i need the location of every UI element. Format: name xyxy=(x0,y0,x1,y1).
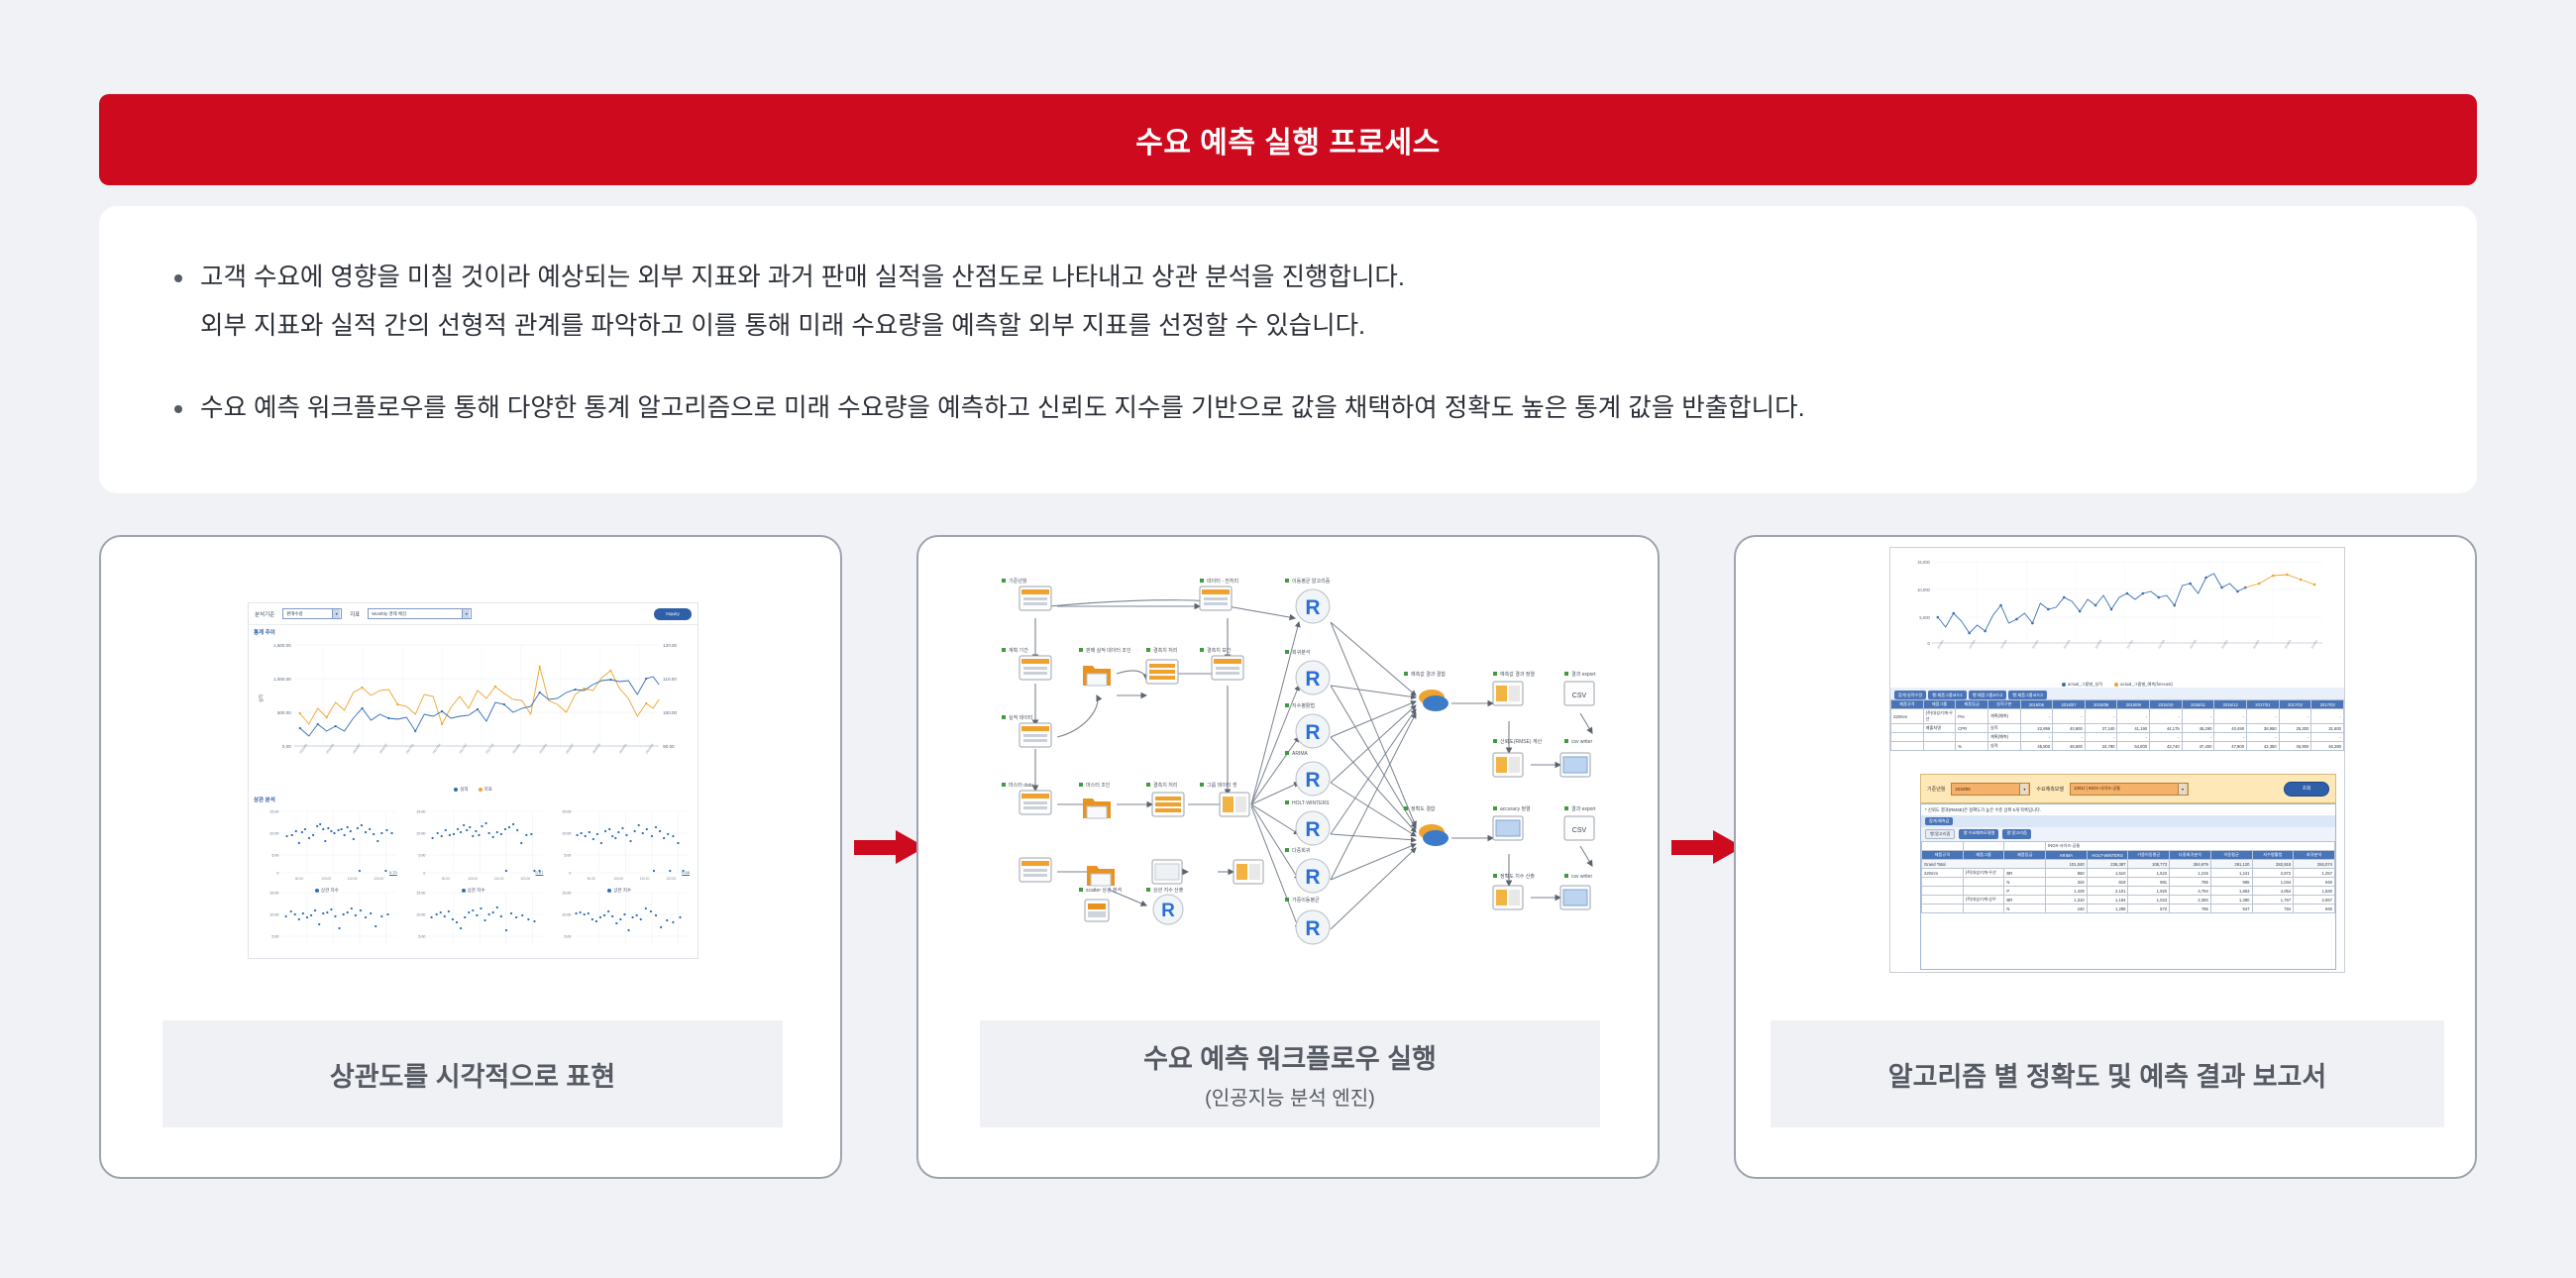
table-row: 계획(예측) - - - - - - - - - - xyxy=(1891,733,2344,742)
svg-text:2017/05: 2017/05 xyxy=(2157,638,2166,649)
cell-value: - xyxy=(2020,733,2053,742)
header-banner: 수요 예측 실행 프로세스 xyxy=(99,94,2477,185)
svg-text:2018/10: 2018/10 xyxy=(591,743,601,755)
svg-text:2016/04: 2016/04 xyxy=(325,743,335,755)
pivot-tab[interactable]: 합계:실적수량 xyxy=(1894,691,1926,699)
cell-value: 1,510 xyxy=(2087,869,2128,878)
forecast-chart: 15,00010,000 5,0000 xyxy=(1898,554,2336,681)
model-name: INOX-사이즈-공통 xyxy=(2046,842,2335,851)
workflow-canvas: 기준년월 계획 기간 실적 데이터 마스터 data 판매 실적 데이터 조인 … xyxy=(958,557,1622,963)
cell-group: (주)대성기계-우산 xyxy=(1963,869,2004,878)
svg-text:2015/01: 2015/01 xyxy=(1936,638,1945,649)
table-row-grand-total: Grand Total 101,040 236,387 108,773 284,… xyxy=(1922,860,2335,869)
pivot-tab[interactable]: 행:제품그룹코드3 xyxy=(2008,691,2046,699)
cell-value: 47,400 xyxy=(2182,742,2214,751)
svg-text:15.00: 15.00 xyxy=(416,892,425,896)
svg-text:100.00: 100.00 xyxy=(321,877,331,881)
workflow-svg: 기준년월 계획 기간 실적 데이터 마스터 data 판매 실적 데이터 조인 … xyxy=(958,557,1622,963)
pivot-chip[interactable]: 행:알고리즘 xyxy=(1925,829,1955,839)
cell-group xyxy=(1923,733,1956,742)
cell-grade xyxy=(1956,733,1988,742)
svg-text:2017/10: 2017/10 xyxy=(484,743,494,755)
legend-label-actual: actual_그룹별_실적 xyxy=(2068,682,2102,688)
svg-text:110.00: 110.00 xyxy=(663,677,677,682)
col-period: 2017/03 xyxy=(2311,700,2344,709)
cell-value: 947 xyxy=(2210,905,2252,913)
cell-value: 2,350 xyxy=(2170,896,2211,905)
col-spec: 제품규격 xyxy=(1891,700,1924,709)
col-algo: ARIMA xyxy=(2046,851,2088,860)
svg-text:CSV: CSV xyxy=(1572,692,1587,699)
cell-value: 850 xyxy=(2046,869,2088,878)
process-step-card-1[interactable]: 분석기준 판매수량 ▾ 지표 Monthly 경제 체감 ▾ Inquiry 통… xyxy=(99,535,842,1179)
cell-spec xyxy=(1922,887,1964,896)
col-group: 제품그룹 xyxy=(1963,851,2004,860)
bullet-list: 고객 수요에 영향을 미칠 것이라 예상되는 외부 지표와 과거 판매 실적을 … xyxy=(99,206,2477,433)
col-kind: 실적구분 xyxy=(1987,700,2020,709)
svg-text:2016/07: 2016/07 xyxy=(352,743,362,755)
indicator-label: 지표 xyxy=(350,610,360,618)
cell-value: 54,800 xyxy=(2117,742,2150,751)
svg-text:0: 0 xyxy=(1928,641,1931,646)
cell-spec xyxy=(1891,733,1924,742)
svg-text:결측치 처리: 결측치 처리 xyxy=(1153,782,1177,789)
svg-text:0: 0 xyxy=(276,872,278,876)
cell-grade: N xyxy=(2004,878,2046,887)
col-period: 2016/10 xyxy=(2150,700,2183,709)
cell-value: 795 xyxy=(2170,878,2211,887)
table-row: 220mm (주)대성기계-우산 BR 850 1,510 1,523 1,21… xyxy=(1922,869,2335,878)
table-header-row: 제품규격 제품그룹 제품등급 ARIMA HOLT-WINTERS 가중이동평균… xyxy=(1922,851,2335,860)
legend-item-actual: actual_그룹별_실적 xyxy=(2062,682,2102,688)
svg-text:2018/05: 2018/05 xyxy=(2252,638,2261,649)
svg-text:신뢰도(RMSE) 계산: 신뢰도(RMSE) 계산 xyxy=(1500,738,1543,745)
cell-value: - xyxy=(2182,709,2214,724)
svg-text:5.00: 5.00 xyxy=(271,935,278,939)
cell-value: 47,900 xyxy=(2214,742,2247,751)
svg-text:10.00: 10.00 xyxy=(269,832,278,836)
card3-caption-main: 알고리즘 별 정확도 및 예측 결과 보고서 xyxy=(1888,1055,2326,1094)
svg-text:10.00: 10.00 xyxy=(563,913,572,917)
cell-value: 4,054 xyxy=(2252,887,2294,896)
bullet-item: 수요 예측 워크플로우를 통해 다양한 통계 알고리즘으로 미래 수요량을 예측… xyxy=(170,384,2477,433)
cell-value: 43,740 xyxy=(2150,742,2183,751)
cell-value: - xyxy=(2053,709,2086,724)
col-period: 2016/11 xyxy=(2182,700,2214,709)
cell-group xyxy=(1923,742,1956,751)
inquiry-button[interactable]: Inquiry xyxy=(654,608,692,620)
svg-text:10.00: 10.00 xyxy=(269,913,278,917)
svg-text:accuracy 정렬: accuracy 정렬 xyxy=(1500,805,1531,812)
svg-text:90.00: 90.00 xyxy=(663,744,675,749)
cell-group: (주)대성기계-우산 xyxy=(1923,709,1956,724)
pivot-chip[interactable]: 합계:예측값 xyxy=(1925,817,1953,825)
cell-value: - xyxy=(2117,733,2150,742)
legend-item-index: 지표 xyxy=(479,787,492,793)
svg-text:15.00: 15.00 xyxy=(563,810,572,814)
cell-value: - xyxy=(2150,709,2183,724)
legend-label-index: 지표 xyxy=(484,787,492,793)
table-row: 220mm (주)대성기계-우산 Pre 계획(예측) - - - - - - xyxy=(1891,709,2344,724)
cell-value: 36,950 xyxy=(2247,724,2280,733)
table-row: % 실적 45,800 48,500 34,790 54,800 43,740 … xyxy=(1891,742,2344,751)
svg-text:15.00: 15.00 xyxy=(269,892,278,896)
svg-text:2016/01: 2016/01 xyxy=(2031,638,2040,649)
cell-value: 48,500 xyxy=(2053,742,2086,751)
svg-text:100.00: 100.00 xyxy=(663,710,677,715)
chevron-down-icon: ▾ xyxy=(2019,784,2028,795)
legend-item-forecast: actual_그룹별_예측(forecast) xyxy=(2114,682,2173,688)
cell-value: 240 xyxy=(2046,905,2088,913)
svg-text:2018/09: 2018/09 xyxy=(2284,638,2293,649)
col-period: 2017/01 xyxy=(2247,700,2280,709)
svg-text:R: R xyxy=(1305,596,1320,619)
svg-text:90.00: 90.00 xyxy=(441,877,449,881)
svg-text:상관 지수 산출: 상관 지수 산출 xyxy=(1153,887,1184,894)
svg-text:2017/09: 2017/09 xyxy=(2189,638,2198,649)
base-month-label: 기준년월 xyxy=(1927,786,1945,793)
cell-value: 1,390 xyxy=(2210,896,2252,905)
legend-label-forecast: actual_그룹별_예측(forecast) xyxy=(2120,682,2173,688)
period-pivot-table: 제품규격 제품그룹 제품등급 실적구분 2016/06 2016/07 2016… xyxy=(1890,699,2344,751)
col-grade: 제품등급 xyxy=(1956,700,1988,709)
cell-grade: Pre xyxy=(1956,709,1988,724)
cell-value: - xyxy=(2247,709,2280,724)
svg-text:0: 0 xyxy=(570,872,572,876)
svg-text:데이터 - 전처리: 데이터 - 전처리 xyxy=(1207,578,1238,585)
cell-group: 매출처명 xyxy=(1923,724,1956,733)
svg-text:10,000: 10,000 xyxy=(1917,587,1930,592)
trend-chart-svg: 1,500.001,000.00 500.000.00 120.00110.00… xyxy=(255,637,692,786)
forecast-model-select[interactable]: 1003J | INOX-사이즈-공통 ▾ xyxy=(2070,783,2189,796)
svg-text:2018/04: 2018/04 xyxy=(538,743,548,755)
cell-grand-total-label: Grand Total xyxy=(1922,860,2046,869)
card1-thumbnail: 분석기준 판매수량 ▾ 지표 Monthly 경제 체감 ▾ Inquiry 통… xyxy=(101,537,840,983)
svg-text:120.00: 120.00 xyxy=(663,643,677,648)
cell-value: 1,194 xyxy=(2087,896,2128,905)
bullet-item: 고객 수요에 영향을 미칠 것이라 예상되는 외부 지표와 과거 판매 실적을 … xyxy=(170,254,2477,351)
cell-value: - xyxy=(2311,709,2344,724)
correlation-section-title: 상관 분석 xyxy=(249,793,698,803)
forecast-chart-svg: 15,00010,000 5,0000 xyxy=(1898,554,2336,681)
analysis-basis-select[interactable]: 판매수량 ▾ xyxy=(282,608,342,619)
svg-text:csv writer: csv writer xyxy=(1571,874,1592,880)
col-period: 2016/06 xyxy=(2020,700,2053,709)
svg-text:5.00: 5.00 xyxy=(565,854,572,858)
table-header-row: 제품규격 제품그룹 제품등급 실적구분 2016/06 2016/07 2016… xyxy=(1891,700,2344,709)
col-group: 제품그룹 xyxy=(1923,700,1956,709)
svg-text:15.00: 15.00 xyxy=(563,892,572,896)
cell-value: - xyxy=(2182,733,2214,742)
svg-text:2018/01: 2018/01 xyxy=(511,743,521,755)
svg-text:2015/05: 2015/05 xyxy=(1968,638,1977,649)
svg-text:결과 export: 결과 export xyxy=(1571,671,1596,678)
svg-text:csv writer: csv writer xyxy=(1571,739,1592,745)
bullet-dot-icon xyxy=(174,274,182,282)
chevron-down-icon: ▾ xyxy=(2178,784,2187,795)
cell-value: 291,120 xyxy=(2210,860,2252,869)
bullet-line-2: 외부 지표와 실적 간의 선형적 관계를 파악하고 이를 통해 미래 수요량을 … xyxy=(200,302,2477,351)
card3-thumbnail: 15,00010,000 5,0000 xyxy=(1736,537,2475,983)
col-algo: 다중회귀분석 xyxy=(2170,851,2211,860)
algorithm-accuracy-table: INOX-사이즈-공통 제품규격 제품그룹 제품등급 ARIMA HOLT-WI… xyxy=(1921,841,2335,913)
analysis-basis-value: 판매수량 xyxy=(286,611,303,617)
svg-text:100.00: 100.00 xyxy=(468,877,478,881)
svg-text:90.00: 90.00 xyxy=(295,877,303,881)
svg-text:15,000: 15,000 xyxy=(1917,560,1930,565)
col-spec: 제품규격 xyxy=(1922,851,1964,860)
pivot-tab[interactable]: 행:제품그룹코드2 xyxy=(1969,691,2006,699)
svg-text:그룹 데이터 셋: 그룹 데이터 셋 xyxy=(1207,782,1237,789)
col-algo: HOLT-WINTERS xyxy=(2087,851,2128,860)
chevron-down-icon: ▾ xyxy=(332,609,340,618)
cell-value: 282,918 xyxy=(2252,860,2294,869)
cell-value: - xyxy=(2311,733,2344,742)
svg-text:마스터 조인: 마스터 조인 xyxy=(1086,782,1111,789)
correlation-coefficient: 0.73 xyxy=(389,870,397,875)
svg-text:0: 0 xyxy=(423,872,425,876)
col-period: 2016/08 xyxy=(2085,700,2117,709)
svg-text:2017/04: 2017/04 xyxy=(432,743,442,755)
process-step-card-2[interactable]: 기준년월 계획 기간 실적 데이터 마스터 data 판매 실적 데이터 조인 … xyxy=(916,535,1660,1179)
model-name-row: INOX-사이즈-공통 xyxy=(1922,842,2335,851)
svg-text:R: R xyxy=(1305,917,1320,940)
scatter-plot: 15.0010.00 5.000 90.00100.00 110.00120.0… xyxy=(255,805,399,885)
svg-text:이동평균 알고리즘: 이동평균 알고리즘 xyxy=(1292,578,1331,585)
cell-value: - xyxy=(2214,733,2247,742)
cell-kind: 실적 xyxy=(1987,742,2020,751)
chevron-down-icon: ▾ xyxy=(462,609,470,618)
svg-text:120.00: 120.00 xyxy=(520,877,530,881)
cell-value: 2,557 xyxy=(2294,896,2335,905)
svg-text:R: R xyxy=(1305,866,1320,889)
svg-text:R: R xyxy=(1305,721,1320,744)
page-title: 수요 예측 실행 프로세스 xyxy=(1135,118,1441,161)
svg-text:0.00: 0.00 xyxy=(282,744,291,749)
pivot-tab[interactable]: 행:제품그룹코드1 xyxy=(1928,691,1966,699)
svg-text:2018/01: 2018/01 xyxy=(2220,638,2229,649)
cell-value: 1,310 xyxy=(2046,896,2088,905)
cell-grade: N xyxy=(2004,905,2046,913)
cell-value: 284,679 xyxy=(2170,860,2211,869)
cell-spec xyxy=(1891,742,1924,751)
search-button[interactable]: 조회 xyxy=(2284,782,2329,797)
scatter-plot-grid: 15.0010.00 5.000 90.00100.00 110.00120.0… xyxy=(255,805,692,948)
slide-root: 수요 예측 실행 프로세스 고객 수요에 영향을 미칠 것이라 예상되는 외부 … xyxy=(0,0,2576,1278)
cell-value: 1,840 xyxy=(2294,887,2335,896)
indicator-select[interactable]: Monthly 경제 체감 ▾ xyxy=(368,608,472,619)
svg-text:정확도 결합: 정확도 결합 xyxy=(1411,805,1436,812)
cell-value: 940 xyxy=(2294,878,2335,887)
cell-value: 31,600 xyxy=(2311,724,2344,733)
card1-caption-main: 상관도를 시각적으로 표현 xyxy=(330,1055,615,1094)
svg-text:판매 실적 데이터 조인: 판매 실적 데이터 조인 xyxy=(1086,647,1131,654)
svg-text:2019/01: 2019/01 xyxy=(618,743,628,755)
svg-text:R: R xyxy=(1305,818,1320,841)
pivot-chip[interactable]: 열:수요예측모델명 xyxy=(1959,829,1998,839)
accuracy-note: * 신뢰도 결과(RMSE)은 정확도가 높은 수준 상위 5개 목록입니다. xyxy=(1921,804,2335,815)
cell-value: 44,175 xyxy=(2150,724,2183,733)
svg-text:5,000: 5,000 xyxy=(1919,615,1930,620)
cell-value: 41,190 xyxy=(2117,724,2150,733)
svg-text:2017/07: 2017/07 xyxy=(459,743,469,755)
svg-text:90.00: 90.00 xyxy=(588,877,595,881)
cell-value: 2,101 xyxy=(2087,887,2128,896)
svg-text:HOLT-WINTERS: HOLT-WINTERS xyxy=(1292,800,1330,806)
svg-text:2019/01: 2019/01 xyxy=(2310,638,2319,649)
svg-text:다중회귀: 다중회귀 xyxy=(1292,847,1310,854)
col-algo: 지수평활법 xyxy=(2252,851,2294,860)
cell-value: 45,900 xyxy=(2279,742,2311,751)
cell-value: 1,429 xyxy=(2046,887,2088,896)
svg-text:마스터 data: 마스터 data xyxy=(1009,782,1033,789)
forecast-model-value: 1003J | INOX-사이즈-공통 xyxy=(2074,786,2120,792)
pivot-chip[interactable]: 열:알고리즘 xyxy=(2002,829,2030,839)
cell-value: 40,490 xyxy=(2214,724,2247,733)
svg-text:5.00: 5.00 xyxy=(565,935,572,939)
cell-grade: P xyxy=(2004,887,2046,896)
cell-group xyxy=(1963,905,2004,913)
svg-text:110.00: 110.00 xyxy=(640,877,650,881)
cell-value: - xyxy=(2279,733,2311,742)
cell-value: 794 xyxy=(2252,905,2294,913)
svg-text:500.00: 500.00 xyxy=(277,710,291,715)
cell-value: - xyxy=(2150,733,2183,742)
cell-value: 101,040 xyxy=(2046,860,2088,869)
svg-text:계획 기간: 계획 기간 xyxy=(1009,647,1028,654)
svg-text:R: R xyxy=(1305,769,1320,792)
cell-group: (주)대성기계-상우 xyxy=(1963,896,2004,905)
analysis-basis-label: 분석기준 xyxy=(255,610,274,618)
cell-value: 284,074 xyxy=(2294,860,2335,869)
cell-value: 2,872 xyxy=(2252,869,2294,878)
scatter-plot: 15.0010.005.00 xyxy=(547,887,692,948)
cell-value: - xyxy=(2117,709,2150,724)
trend-section-title: 통계 추이 xyxy=(249,625,698,636)
correlation-dashboard: 분석기준 판매수량 ▾ 지표 Monthly 경제 체감 ▾ Inquiry 통… xyxy=(248,602,698,959)
svg-text:CSV: CSV xyxy=(1572,827,1587,834)
forecast-model-label: 수요예측모델 xyxy=(2036,786,2064,793)
bullet-dot-icon xyxy=(174,405,182,413)
scatter-plot: 15.0010.005.00 xyxy=(255,887,399,948)
cell-value: 45,290 xyxy=(2182,724,2214,733)
card3-caption: 알고리즘 별 정확도 및 예측 결과 보고서 xyxy=(1771,1020,2444,1127)
cell-value: 818 xyxy=(2087,878,2128,887)
svg-text:2017/01: 2017/01 xyxy=(405,743,415,755)
svg-text:1,000.00: 1,000.00 xyxy=(273,677,291,682)
forecast-report: 15,00010,000 5,0000 xyxy=(1889,547,2345,973)
svg-text:5.00: 5.00 xyxy=(418,854,425,858)
cell-spec xyxy=(1922,896,1964,905)
cell-value: - xyxy=(2085,709,2117,724)
cell-value: - xyxy=(2247,733,2280,742)
cell-value: 25,300 xyxy=(2279,724,2311,733)
cell-value: 1,257 xyxy=(2294,869,2335,878)
table-row: (주)대성기계-상우 BR 1,310 1,194 1,023 2,350 1,… xyxy=(1922,896,2335,905)
svg-text:1,500.00: 1,500.00 xyxy=(273,643,291,648)
cell-grade: % xyxy=(1956,742,1988,751)
cell-grade: BR xyxy=(2004,896,2046,905)
svg-text:10.00: 10.00 xyxy=(416,832,425,836)
table-row: P 1,429 2,101 1,920 4,794 1,863 4,054 1,… xyxy=(1922,887,2335,896)
svg-text:120.00: 120.00 xyxy=(667,877,677,881)
svg-text:기준년월: 기준년월 xyxy=(1009,578,1027,585)
svg-text:2018/07: 2018/07 xyxy=(565,743,575,755)
svg-text:2016/01: 2016/01 xyxy=(298,743,308,755)
table-row: 매출처명 CPR 실적 22,899 40,900 37,240 41,190 … xyxy=(1891,724,2344,733)
cell-value: 45,800 xyxy=(2020,742,2053,751)
cell-value: 940 xyxy=(2294,905,2335,913)
cell-grade: CPR xyxy=(1956,724,1988,733)
svg-text:R: R xyxy=(1161,901,1175,921)
cell-value: - xyxy=(2214,709,2247,724)
col-period: 2016/12 xyxy=(2214,700,2247,709)
cell-value: 1,920 xyxy=(2128,887,2170,896)
base-month-select[interactable]: 2019/08 ▾ xyxy=(1951,783,2030,796)
col-algo: 회귀분석 xyxy=(2294,851,2335,860)
svg-text:실적: 실적 xyxy=(258,694,265,702)
svg-text:정확도 지수 산출: 정확도 지수 산출 xyxy=(1500,873,1535,880)
scatter-plot: 15.0010.00 5.000 90.00100.00 110.00120.0… xyxy=(547,805,692,885)
svg-text:2016/05: 2016/05 xyxy=(2063,638,2072,649)
cell-value: 236,387 xyxy=(2087,860,2128,869)
svg-text:2017/01: 2017/01 xyxy=(2125,638,2134,649)
cell-value: 795 xyxy=(2170,905,2211,913)
accuracy-tab-bar-2: 행:알고리즘 열:수요예측모델명 열:알고리즘 xyxy=(1921,827,2335,841)
svg-text:5.00: 5.00 xyxy=(271,854,278,858)
cell-value: 42,350 xyxy=(2247,742,2280,751)
table-row: N 334 818 981 795 995 1,044 940 xyxy=(1922,878,2335,887)
cell-value: 1,523 xyxy=(2128,869,2170,878)
svg-text:120.00: 120.00 xyxy=(374,877,383,881)
card2-caption: 수요 예측 워크플로우 실행 (인공지능 분석 엔진) xyxy=(980,1020,1600,1127)
cell-value: 108,773 xyxy=(2128,860,2170,869)
svg-text:5.00: 5.00 xyxy=(418,935,425,939)
cell-value: 1,215 xyxy=(2170,869,2211,878)
accuracy-panel: * 신뢰도 결과(RMSE)은 정확도가 높은 수준 상위 5개 목록입니다. … xyxy=(1920,803,2336,970)
col-algo: 가중이동평균 xyxy=(2128,851,2170,860)
cell-value: 1,241 xyxy=(2210,869,2252,878)
cell-value: 22,899 xyxy=(2020,724,2053,733)
cell-value: - xyxy=(2279,709,2311,724)
svg-text:2015/09: 2015/09 xyxy=(1999,638,2008,649)
cell-value: 1,044 xyxy=(2252,878,2294,887)
svg-text:110.00: 110.00 xyxy=(493,877,503,881)
cell-value: 981 xyxy=(2128,878,2170,887)
cell-grade: BR xyxy=(2004,869,2046,878)
bullet-line-1: 수요 예측 워크플로우를 통해 다양한 통계 알고리즘으로 미래 수요량을 예측… xyxy=(200,394,1805,422)
cell-value: 1,767 xyxy=(2252,896,2294,905)
bullet-line-1: 고객 수요에 영향을 미칠 것이라 예상되는 외부 지표와 과거 판매 실적을 … xyxy=(200,264,1405,291)
cell-group xyxy=(1963,878,2004,887)
svg-text:10.00: 10.00 xyxy=(416,913,425,917)
card1-caption: 상관도를 시각적으로 표현 xyxy=(162,1020,783,1127)
process-step-card-3[interactable]: 15,00010,000 5,0000 xyxy=(1734,535,2477,1179)
cell-value: 995 xyxy=(2210,878,2252,887)
col-period: 2016/07 xyxy=(2053,700,2086,709)
flow-arrow-1-icon xyxy=(854,830,925,864)
svg-text:110.00: 110.00 xyxy=(348,877,358,881)
pivot-tab-bar: 합계:실적수량 행:제품그룹코드1 행:제품그룹코드2 행:제품그룹코드3 xyxy=(1890,688,2344,699)
cell-value: 672 xyxy=(2128,905,2170,913)
svg-text:15.00: 15.00 xyxy=(269,810,278,814)
dashboard-toolbar: 분석기준 판매수량 ▾ 지표 Monthly 경제 체감 ▾ Inquiry xyxy=(249,603,698,625)
cell-value: 1,863 xyxy=(2210,887,2252,896)
svg-text:10.00: 10.00 xyxy=(563,832,572,836)
col-period: 2017/02 xyxy=(2279,700,2311,709)
description-panel: 고객 수요에 영향을 미칠 것이라 예상되는 외부 지표와 과거 판매 실적을 … xyxy=(99,206,2477,493)
svg-text:결측치 보간: 결측치 보간 xyxy=(1207,647,1232,654)
